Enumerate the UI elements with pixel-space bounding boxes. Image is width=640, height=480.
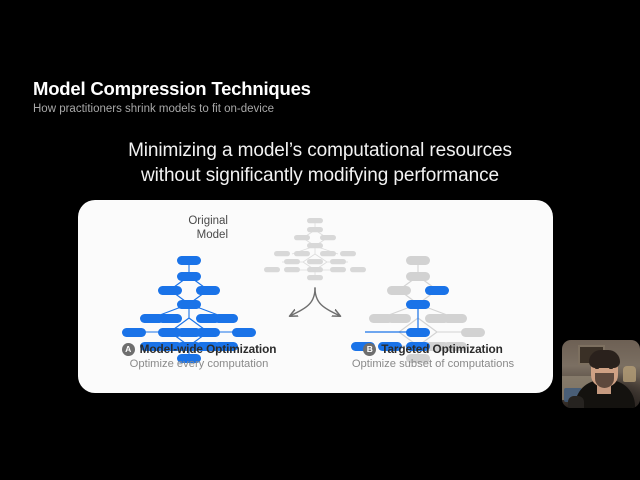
option-b-title: Targeted Optimization: [381, 342, 503, 356]
presenter-hair: [589, 350, 620, 368]
presenter-video-thumbnail[interactable]: [562, 340, 640, 408]
option-a-badge: A: [122, 343, 135, 356]
slide-header: Model Compression Techniques How practit…: [33, 78, 453, 117]
page-subtitle: How practitioners shrink models to fit o…: [33, 103, 453, 117]
option-b-caption: B Targeted Optimization Optimize subset …: [318, 342, 548, 372]
original-model-network: [264, 218, 366, 280]
option-a-title: Model-wide Optimization: [140, 342, 277, 356]
option-a-caption: A Model-wide Optimization Optimize every…: [84, 342, 314, 372]
presentation-slide: Model Compression Techniques How practit…: [0, 0, 640, 480]
presenter-eye-left: [595, 367, 599, 369]
option-b-heading: B Targeted Optimization: [318, 342, 548, 356]
statement-line-1: Minimizing a model’s computational resou…: [0, 138, 640, 163]
option-a-heading: A Model-wide Optimization: [84, 342, 314, 356]
page-title: Model Compression Techniques: [33, 78, 453, 99]
microphone: [568, 396, 584, 408]
option-a-subtitle: Optimize every computation: [84, 358, 314, 371]
statement-line-2: without significantly modifying performa…: [0, 163, 640, 188]
option-b-subtitle: Optimize subset of computations: [318, 358, 548, 371]
statement-text: Minimizing a model’s computational resou…: [0, 138, 640, 188]
presenter-eye-right: [609, 367, 613, 369]
branch-arrows: [290, 288, 340, 316]
lamp: [623, 366, 636, 382]
option-b-badge: B: [363, 343, 376, 356]
diagram-card: Original Model: [78, 200, 553, 393]
